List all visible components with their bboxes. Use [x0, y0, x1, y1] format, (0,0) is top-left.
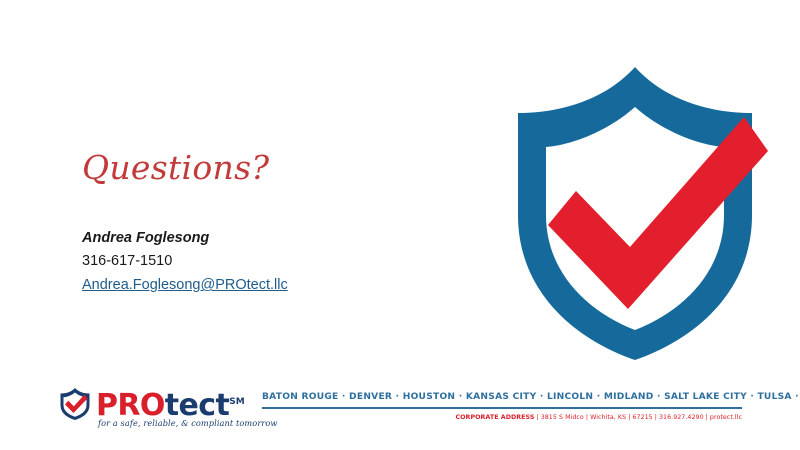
- contact-phone: 316-617-1510: [82, 251, 412, 273]
- corporate-address-details: | 3815 S Midco | Wichita, KS | 67215 | 3…: [534, 414, 742, 421]
- shield-checkmark-graphic: [500, 55, 770, 365]
- brand-trademark: SM: [229, 397, 244, 407]
- corporate-address-label: CORPORATE ADDRESS: [455, 414, 534, 421]
- contact-email-link[interactable]: Andrea.Foglesong@PROtect.llc: [82, 275, 288, 297]
- footer-info: BATON ROUGE · DENVER · HOUSTON · KANSAS …: [262, 391, 742, 422]
- page-title: Questions?: [82, 150, 412, 186]
- brand-logo: PROtectSM for a safe, reliable, & compli…: [58, 385, 248, 435]
- slide-canvas: Questions? Andrea Foglesong 316-617-1510…: [0, 0, 800, 450]
- protect-shield-check-logo-icon: [58, 387, 92, 421]
- footer-divider: [262, 407, 742, 409]
- brand-tagline: for a safe, reliable, & compliant tomorr…: [98, 418, 277, 428]
- content-block: Questions? Andrea Foglesong 316-617-1510…: [82, 150, 412, 297]
- corporate-address: CORPORATE ADDRESS | 3815 S Midco | Wichi…: [262, 413, 742, 422]
- contact-name: Andrea Foglesong: [82, 228, 412, 249]
- footer: PROtectSM for a safe, reliable, & compli…: [0, 383, 800, 443]
- office-cities-list: BATON ROUGE · DENVER · HOUSTON · KANSAS …: [262, 391, 742, 404]
